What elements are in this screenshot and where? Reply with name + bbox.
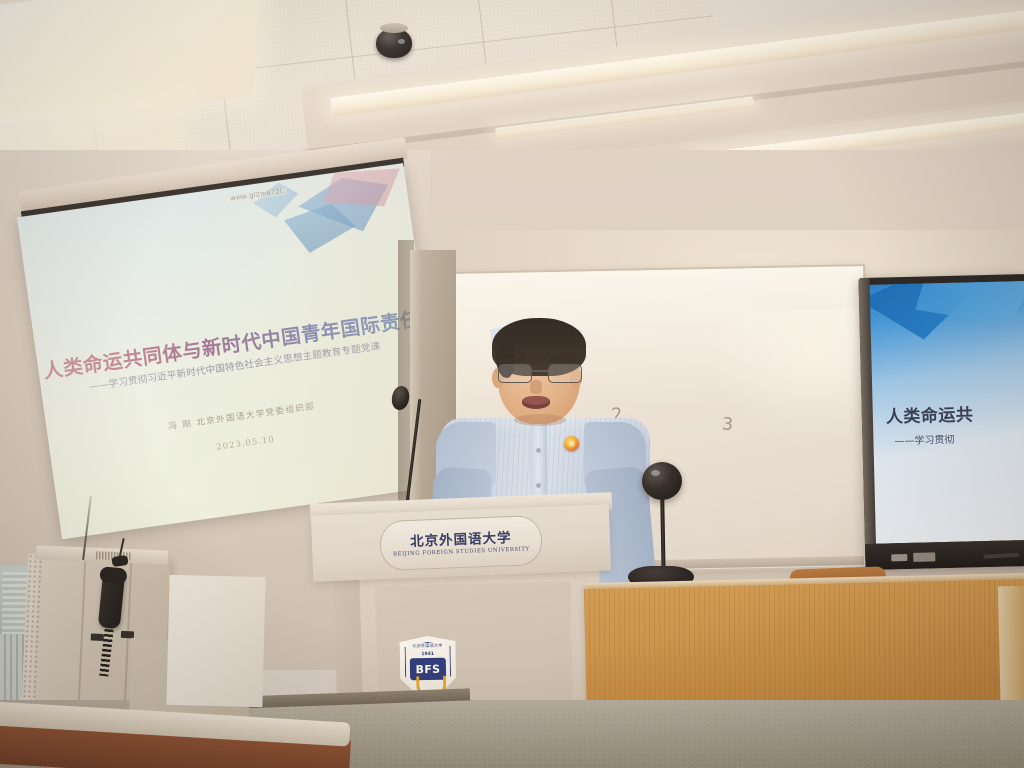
emblem-ring-text-cn: 北京外国语大学: [400, 643, 456, 650]
glasses-bridge: [530, 370, 548, 372]
shirt-button: [536, 448, 541, 453]
screen-glare: [17, 163, 448, 539]
side-monitor-screen: 人类命运共 ——学习贯彻: [869, 281, 1024, 544]
mouth: [522, 396, 550, 409]
camera-glint: [398, 39, 405, 44]
glasses-icon: [498, 364, 582, 382]
lectern-front-face: 北京外国语大学 BEIJING FOREIGN STUDIES UNIVERSI…: [311, 504, 611, 581]
monitor-port: [891, 554, 907, 561]
party-emblem-pin-icon: [564, 436, 579, 451]
foreground-white-panel: [166, 575, 265, 707]
monitor-slide-subtitle: ——学习贯彻: [894, 431, 954, 447]
ball-microphone-head: [642, 462, 682, 500]
cabinet-handle[interactable]: [91, 633, 104, 641]
shirt-button: [536, 483, 541, 488]
nose: [530, 380, 542, 394]
emblem-letters: BFS: [415, 662, 440, 675]
stylus-pen[interactable]: [983, 553, 1019, 559]
projection-screen-assembly: www.gl2m872l. 人类命运共同体与新时代中国青年国际责任 ——学习贯彻…: [13, 197, 411, 550]
monitor-slide-title: 人类命运共: [886, 400, 974, 427]
chin-shadow: [514, 414, 566, 426]
projection-screen: www.gl2m872l. 人类命运共同体与新时代中国青年国际责任 ——学习贯彻…: [17, 163, 448, 539]
lens-right: [548, 364, 582, 383]
monitor-bottom-bezel: [865, 540, 1024, 570]
side-monitor: 人类命运共 ——学习贯彻: [858, 274, 1024, 570]
lens-left: [498, 364, 532, 383]
emblem-year: 1941: [400, 652, 456, 658]
microphone-glint: [651, 470, 660, 476]
whiteboard-mark: 3: [721, 414, 733, 435]
lectern-nameplate: 北京外国语大学 BEIJING FOREIGN STUDIES UNIVERSI…: [379, 515, 543, 571]
lecture-hall-photo: www.gl2m872l. 人类命运共同体与新时代中国青年国际责任 ——学习贯彻…: [0, 0, 1024, 768]
monitor-port-secondary: [913, 552, 935, 562]
dome-camera-icon: [376, 28, 412, 58]
wall-telephone-handset[interactable]: [98, 569, 126, 629]
telephone-cord: [99, 624, 114, 677]
